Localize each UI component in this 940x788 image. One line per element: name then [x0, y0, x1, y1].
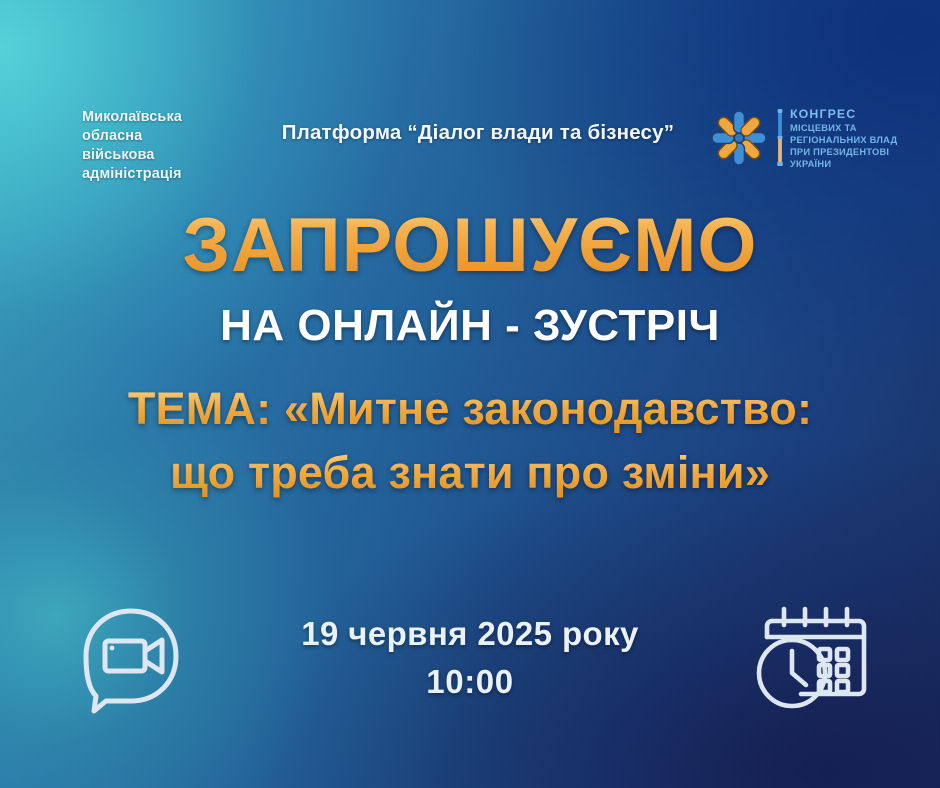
event-date: 19 червня 2025 року	[206, 615, 734, 653]
congress-text-line-1: КОНГРЕС	[790, 106, 897, 122]
poster-header: Миколаївська обласна військова адміністр…	[0, 0, 940, 196]
event-time: 10:00	[206, 663, 734, 701]
video-call-bubble-icon	[56, 599, 206, 717]
organization-name: Миколаївська обласна військова адміністр…	[82, 108, 182, 185]
org-line-2: обласна	[82, 127, 182, 146]
theme-line-2: що треба знати про зміни»	[0, 441, 940, 505]
congress-pinwheel-mark-icon	[708, 107, 770, 169]
congress-logo: КОНГРЕС МІСЦЕВИХ ТА РЕГІОНАЛЬНИХ ВЛАД ПР…	[708, 106, 897, 170]
theme-line-1: ТЕМА: «Митне законодавство:	[0, 377, 940, 441]
org-line-1: Миколаївська	[82, 108, 182, 127]
congress-text-line-3: РЕГІОНАЛЬНИХ ВЛАД	[790, 134, 897, 146]
event-datetime: 19 червня 2025 року 10:00	[206, 615, 734, 701]
event-type-subtitle: НА ОНЛАЙН - ЗУСТРІЧ	[0, 301, 940, 351]
poster-footer: 19 червня 2025 року 10:00	[0, 578, 940, 738]
congress-text-line-2: МІСЦЕВИХ ТА	[790, 122, 897, 134]
headline-section: ЗАПРОШУЄМО НА ОНЛАЙН - ЗУСТРІЧ ТЕМА: «Ми…	[0, 206, 940, 505]
org-line-4: адміністрація	[82, 165, 182, 184]
invitation-headline: ЗАПРОШУЄМО	[0, 206, 940, 285]
calendar-clock-icon	[734, 599, 884, 717]
congress-text-line-5: УКРАЇНИ	[790, 158, 897, 170]
congress-logo-text: КОНГРЕС МІСЦЕВИХ ТА РЕГІОНАЛЬНИХ ВЛАД ПР…	[790, 106, 897, 170]
mace-divider-icon	[774, 107, 786, 169]
congress-text-line-4: ПРИ ПРЕЗИДЕНТОВІ	[790, 146, 897, 158]
platform-title: Платформа “Діалог влади та бізнесу”	[262, 121, 694, 145]
org-line-3: військова	[82, 146, 182, 165]
poster-canvas: Миколаївська обласна військова адміністр…	[0, 0, 940, 788]
